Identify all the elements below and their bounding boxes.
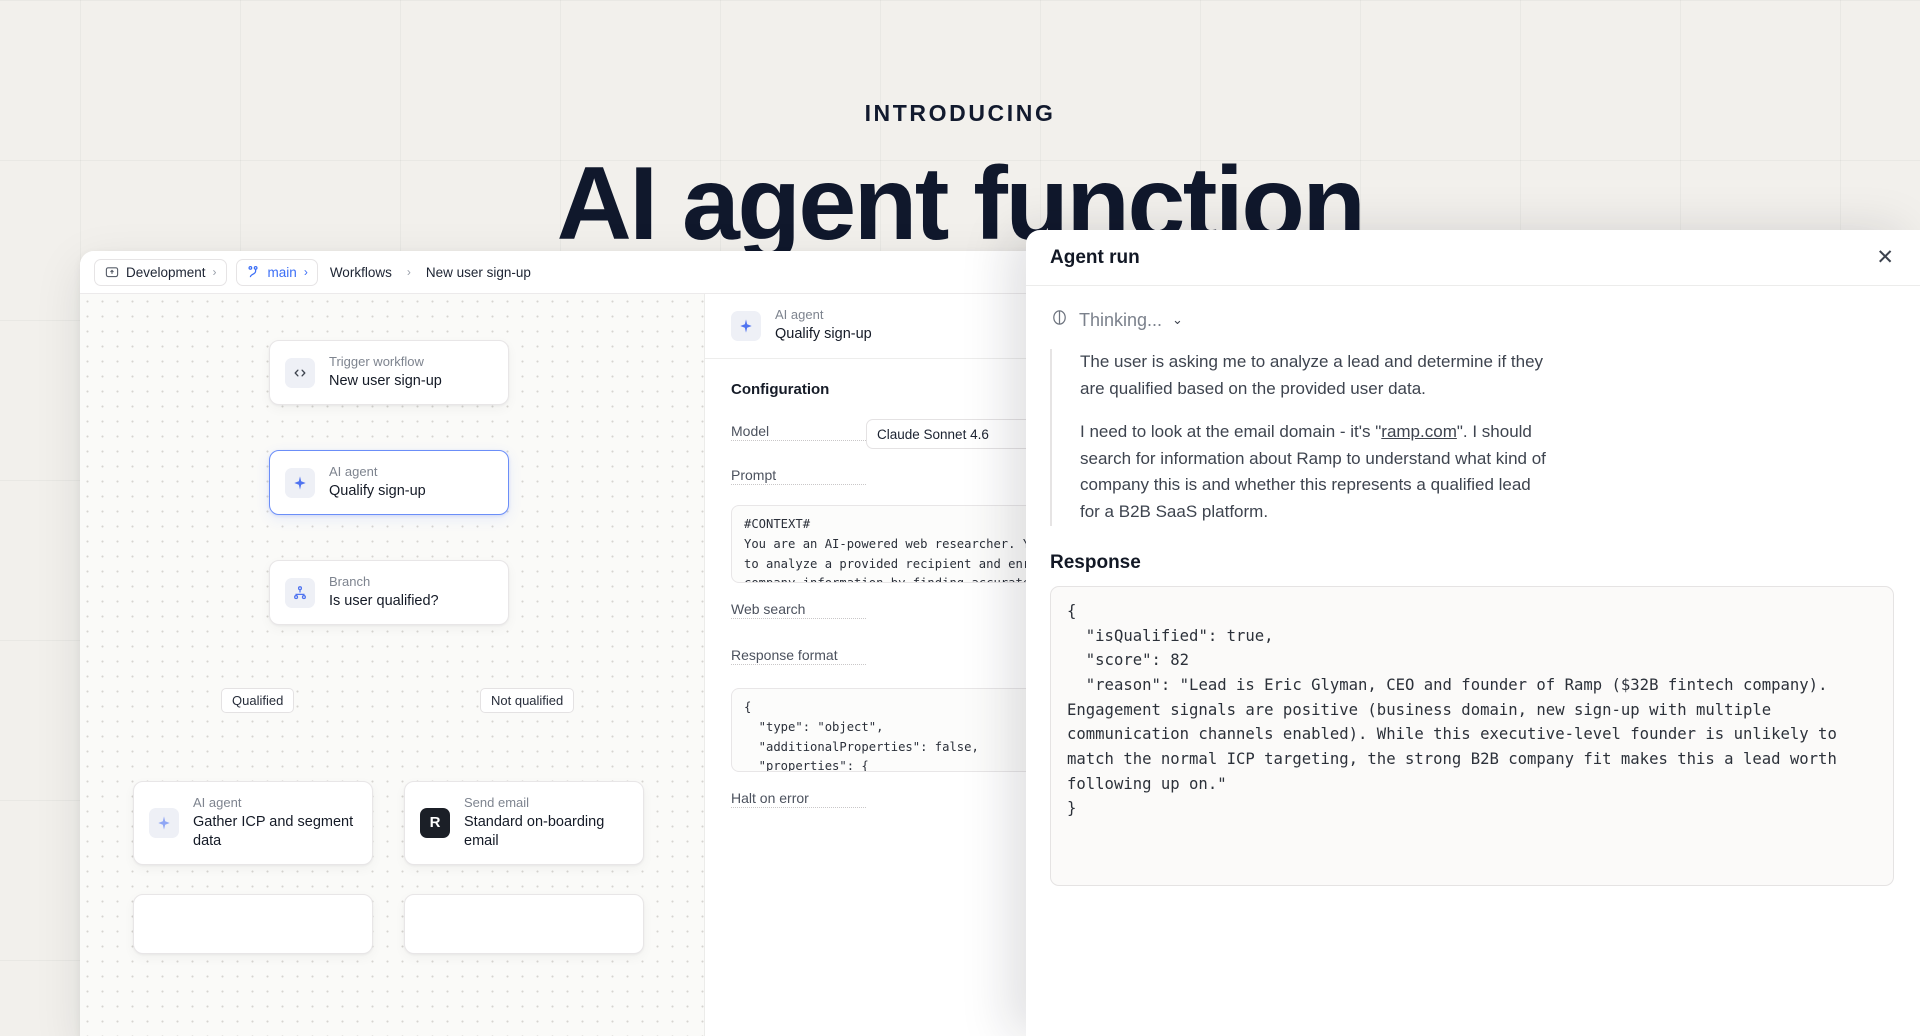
edge-label-qualified: Qualified [221, 688, 294, 713]
agent-run-header: Agent run ✕ [1026, 230, 1920, 286]
node-name-label: Gather ICP and segment data [193, 813, 357, 851]
breadcrumb-separator: › [404, 265, 414, 279]
node-kind-label: AI agent [329, 464, 426, 480]
model-label: Model [731, 423, 866, 441]
chevron-right-icon: › [213, 265, 217, 279]
folder-icon [104, 265, 119, 280]
thinking-content: The user is asking me to analyze a lead … [1050, 349, 1894, 526]
chevron-down-icon[interactable]: ⌄ [1172, 312, 1183, 328]
agent-run-drawer: Agent run ✕ Thinking... ⌄ The user is as… [1026, 230, 1920, 1036]
workflow-node-partial-right[interactable] [404, 894, 644, 954]
workflow-node-trigger[interactable]: Trigger workflow New user sign-up [269, 340, 509, 405]
halt-on-error-label: Halt on error [731, 790, 866, 808]
config-node-kind: AI agent [775, 307, 872, 323]
git-branch-icon [246, 265, 261, 280]
response-json-output: { "isQualified": true, "score": 82 "reas… [1050, 586, 1894, 886]
node-kind-label: Send email [464, 795, 628, 811]
workflow-canvas[interactable]: Trigger workflow New user sign-up AI age… [80, 294, 705, 1036]
response-format-label: Response format [731, 647, 866, 665]
node-name-label: Standard on-boarding email [464, 813, 628, 851]
workflow-node-ai-agent-qualify[interactable]: AI agent Qualify sign-up [269, 450, 509, 515]
thinking-paragraph: The user is asking me to analyze a lead … [1080, 349, 1550, 403]
workflow-node-send-email[interactable]: R Send email Standard on-boarding email [404, 781, 644, 865]
breadcrumb-project-chip[interactable]: Development › [94, 259, 227, 286]
thinking-paragraph: I need to look at the email domain - it'… [1080, 419, 1550, 526]
thinking-toggle-row[interactable]: Thinking... ⌄ [1050, 308, 1894, 332]
code-brackets-icon [285, 358, 315, 388]
workflow-node-partial-left[interactable] [133, 894, 373, 954]
web-search-label: Web search [731, 601, 866, 619]
workflow-node-ai-agent-gather[interactable]: AI agent Gather ICP and segment data [133, 781, 373, 865]
domain-link[interactable]: ramp.com [1381, 422, 1457, 441]
node-name-label: Qualify sign-up [329, 482, 426, 501]
branch-tree-icon [285, 578, 315, 608]
thinking-label: Thinking... [1079, 310, 1162, 331]
model-value: Claude Sonnet 4.6 [877, 427, 989, 442]
chevron-right-icon: › [304, 265, 308, 279]
node-kind-label: Branch [329, 574, 439, 590]
edge-label-not-qualified: Not qualified [480, 688, 574, 713]
sparkle-icon [731, 311, 761, 341]
brain-icon [1050, 308, 1069, 332]
agent-run-body: Thinking... ⌄ The user is asking me to a… [1026, 286, 1920, 1036]
configuration-title: Configuration [731, 381, 829, 398]
node-name-label: New user sign-up [329, 372, 442, 391]
thinking-paragraph-text-a: I need to look at the email domain - it'… [1080, 422, 1381, 441]
breadcrumb-section-label[interactable]: Workflows [327, 265, 395, 280]
workflow-node-branch[interactable]: Branch Is user qualified? [269, 560, 509, 625]
close-icon[interactable]: ✕ [1876, 247, 1894, 268]
prompt-label: Prompt [731, 467, 866, 485]
breadcrumb-project-label: Development [126, 265, 206, 280]
breadcrumb-branch-label: main [268, 265, 297, 280]
hero-section: INTRODUCING AI agent function [0, 0, 1920, 259]
sparkle-icon [149, 808, 179, 838]
node-kind-label: AI agent [193, 795, 357, 811]
sparkle-icon [285, 468, 315, 498]
hero-eyebrow: INTRODUCING [0, 100, 1920, 127]
response-title: Response [1050, 552, 1894, 574]
resend-r-icon: R [420, 808, 450, 838]
node-kind-label: Trigger workflow [329, 354, 442, 370]
node-name-label: Is user qualified? [329, 592, 439, 611]
breadcrumb-branch-chip[interactable]: main › [236, 259, 318, 286]
config-node-name: Qualify sign-up [775, 325, 872, 344]
breadcrumb-page-label: New user sign-up [423, 265, 534, 280]
agent-run-title: Agent run [1050, 247, 1140, 269]
